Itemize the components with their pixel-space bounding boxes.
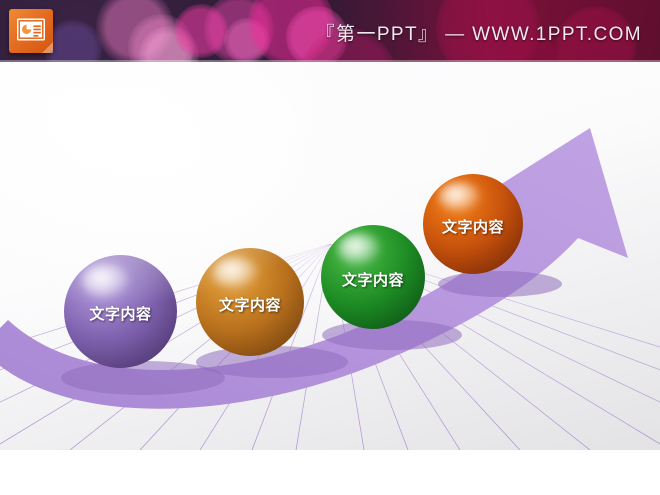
sphere-highlight xyxy=(439,182,481,212)
sphere-group: 文字内容 文字内容 文字内容 文字内容 xyxy=(0,62,660,450)
slide-content-area: 文字内容 文字内容 文字内容 文字内容 xyxy=(0,62,660,450)
site-title: 『第一PPT』 — WWW.1PPT.COM xyxy=(316,19,642,46)
sphere-highlight xyxy=(338,233,382,264)
powerpoint-icon xyxy=(9,9,53,53)
sphere-4[interactable]: 文字内容 xyxy=(423,174,523,274)
sphere-1[interactable]: 文字内容 xyxy=(64,255,177,368)
sphere-2[interactable]: 文字内容 xyxy=(196,248,304,356)
sphere-3[interactable]: 文字内容 xyxy=(321,225,425,329)
site-footer: 第一PPT HTTP://WWW.1PPT.COM xyxy=(0,450,660,495)
sphere-4-label: 文字内容 xyxy=(423,216,523,237)
sphere-highlight xyxy=(213,257,258,289)
sphere-1-label: 文字内容 xyxy=(64,303,177,324)
icon-fold-corner xyxy=(42,42,53,53)
slide-canvas: 『第一PPT』 — WWW.1PPT.COM xyxy=(0,0,660,495)
sphere-2-label: 文字内容 xyxy=(196,294,304,315)
sphere-highlight xyxy=(82,264,129,298)
sphere-3-label: 文字内容 xyxy=(321,269,425,290)
site-header: 『第一PPT』 — WWW.1PPT.COM xyxy=(0,0,660,62)
